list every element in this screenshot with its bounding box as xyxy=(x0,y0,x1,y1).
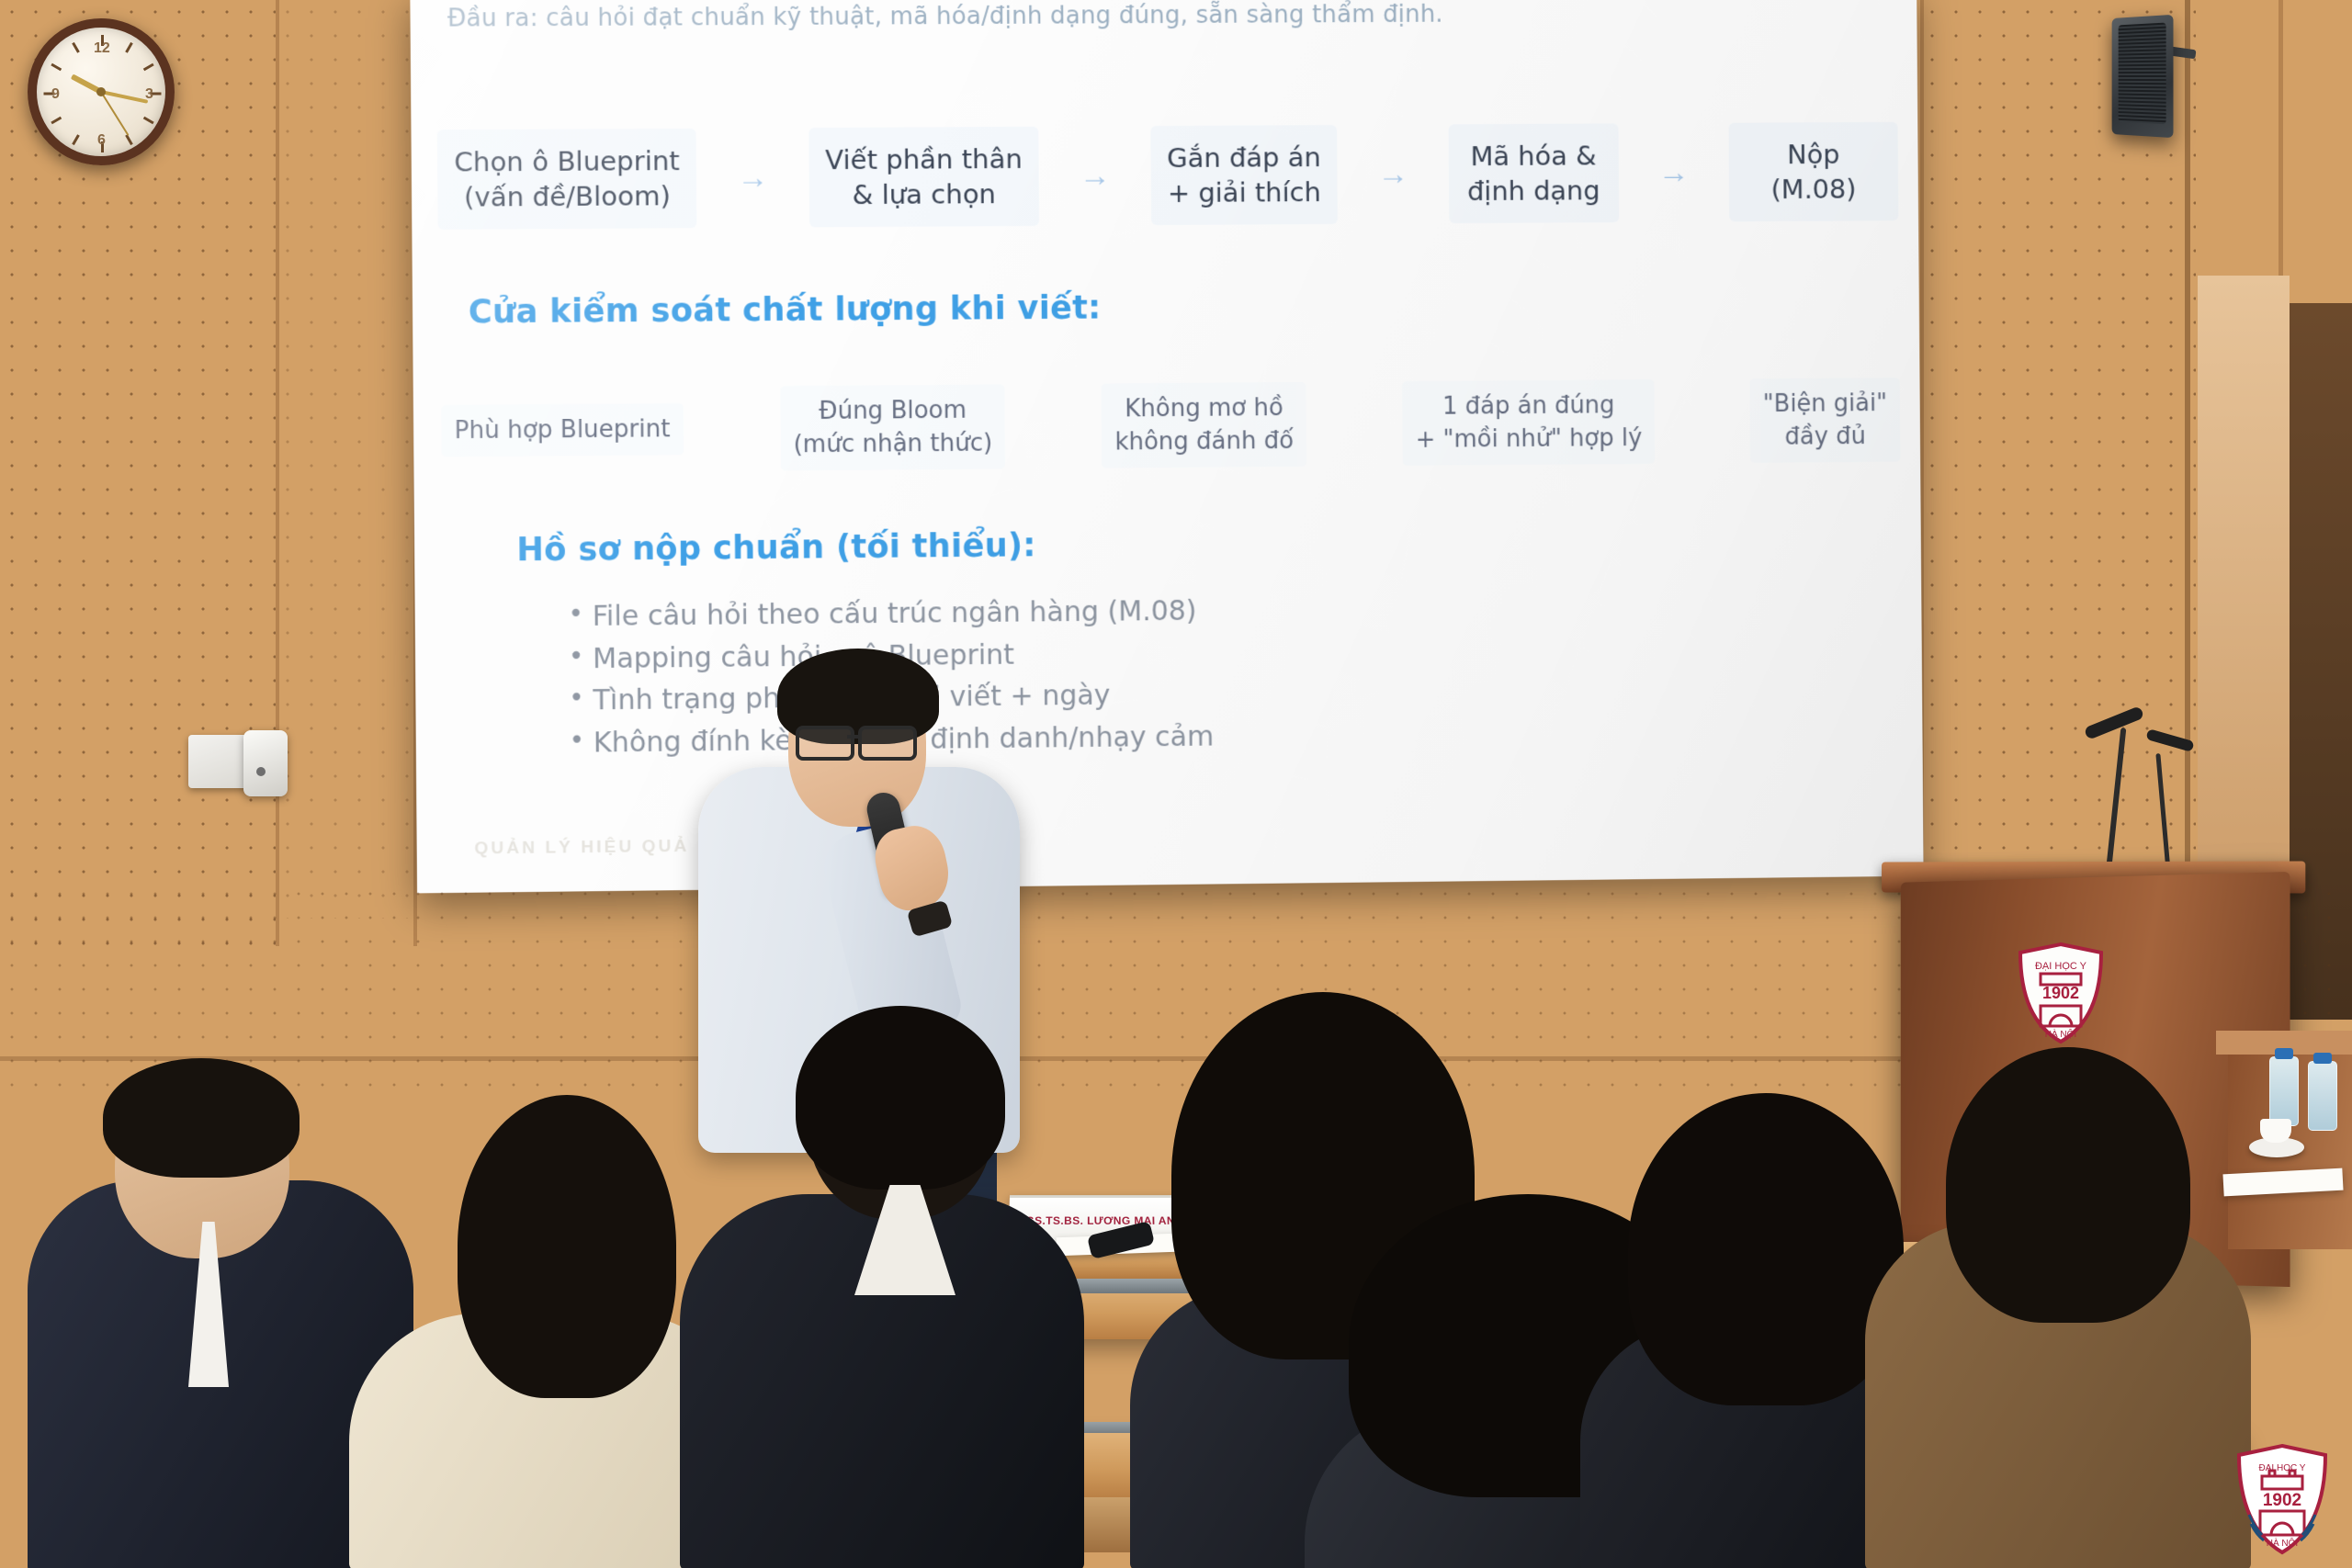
gate-item-4: 1 đáp án đúng + "mồi nhử" hợp lý xyxy=(1402,379,1655,467)
flow-step-5: Nộp (M.08) xyxy=(1728,121,1898,221)
flow-step-2-line1: Viết phần thân xyxy=(825,141,1023,178)
presenter-glasses-right-lens xyxy=(858,726,917,761)
flow-step-1-line2: (vấn đề/Bloom) xyxy=(454,178,680,215)
wall-panel-left-inner xyxy=(276,0,423,919)
gate-item-5-line2: đầy đủ xyxy=(1763,420,1887,454)
gate-item-4-line1: 1 đáp án đúng xyxy=(1415,389,1642,423)
photograph-scene: 12 3 6 9 Q Đầu ra: câu hỏi đạt chuẩn kỹ … xyxy=(0,0,2352,1568)
clock-number-12: 12 xyxy=(94,40,110,57)
clock-face: 12 3 6 9 xyxy=(28,18,175,165)
slide-subtitle: Đầu ra: câu hỏi đạt chuẩn kỹ thuật, mã h… xyxy=(447,0,1881,33)
gate-item-2-line1: Đúng Bloom xyxy=(793,393,992,428)
slide-watermark: QUẢN LÝ HIỆU QUẢ xyxy=(474,837,689,860)
flow-step-2-line2: & lựa chọn xyxy=(825,176,1023,213)
flow-step-1-line1: Chọn ô Blueprint xyxy=(454,143,680,180)
water-bottle-2 xyxy=(2308,1061,2337,1131)
flow-step-3: Gắn đáp án + giải thích xyxy=(1150,125,1338,226)
speaker-grille xyxy=(2119,23,2166,125)
wall-clock: 12 3 6 9 xyxy=(28,18,175,165)
presenter-glasses-bridge xyxy=(847,735,860,739)
presenter-glasses-left-lens xyxy=(796,726,854,761)
flow-step-5-line1: Nộp xyxy=(1745,136,1882,172)
gate-item-2: Đúng Bloom (mức nhận thức) xyxy=(780,384,1006,471)
clock-number-9: 9 xyxy=(51,86,60,103)
gate-item-3-line1: Không mơ hồ xyxy=(1114,391,1294,426)
svg-text:HÀ NỘI: HÀ NỘI xyxy=(2045,1028,2076,1040)
flow-arrow-icon-3: → xyxy=(1374,156,1412,192)
gate-item-3: Không mơ hồ không đánh đố xyxy=(1102,382,1306,468)
flow-step-2: Viết phần thân & lựa chọn xyxy=(808,126,1040,227)
quality-gate-row: Phù hợp Blueprint Đúng Bloom (mức nhận t… xyxy=(441,369,1900,481)
clock-center-pin xyxy=(96,87,106,96)
motion-sensor xyxy=(243,730,288,796)
dossier-bullet-1: File câu hỏi theo cấu trúc ngân hàng (M.… xyxy=(568,591,1213,638)
presentation-slide: Q Đầu ra: câu hỏi đạt chuẩn kỹ thuật, mã… xyxy=(410,0,1923,893)
water-bottle-1 xyxy=(2269,1056,2299,1126)
svg-text:HÀ NỘI: HÀ NỘI xyxy=(2267,1537,2298,1549)
clock-number-6: 6 xyxy=(97,132,106,149)
gate-item-4-line2: + "mồi nhử" hợp lý xyxy=(1416,422,1643,457)
svg-text:1902: 1902 xyxy=(2263,1491,2301,1510)
flow-arrow-icon-4: → xyxy=(1655,154,1693,190)
svg-text:1902: 1902 xyxy=(2042,984,2079,1002)
university-logo-watermark: ĐẠI HỌC Y 1902 HÀ NỘI xyxy=(2234,1443,2330,1555)
gate-item-5: "Biện giải" đầy đủ xyxy=(1750,378,1901,464)
gate-item-2-line2: (mức nhận thức) xyxy=(793,427,992,462)
gate-item-1: Phù hợp Blueprint xyxy=(441,403,684,457)
gate-item-5-line1: "Biện giải" xyxy=(1763,387,1887,421)
flow-arrow-icon-2: → xyxy=(1075,158,1114,194)
wall-speaker xyxy=(2112,15,2174,138)
flow-arrow-icon-1: → xyxy=(733,160,773,196)
svg-text:ĐẠI HỌC Y: ĐẠI HỌC Y xyxy=(2259,1463,2306,1473)
quality-gate-heading: Cửa kiểm soát chất lượng khi viết: xyxy=(469,290,1102,332)
flow-step-3-line2: + giải thích xyxy=(1167,175,1321,210)
nameplate-text: PGS.TS.BS. LƯƠNG MAI ANH xyxy=(1018,1214,1184,1227)
wall-seam-1 xyxy=(276,0,279,946)
flow-step-4-line1: Mã hóa & xyxy=(1464,138,1601,174)
flow-step-3-line1: Gắn đáp án xyxy=(1167,140,1321,175)
dossier-heading: Hồ sơ nộp chuẩn (tối thiểu): xyxy=(516,527,1036,569)
gate-item-3-line2: không đánh đố xyxy=(1114,424,1294,459)
projection-screen: Q Đầu ra: câu hỏi đạt chuẩn kỹ thuật, mã… xyxy=(410,0,1923,893)
flow-step-4-line2: định dạng xyxy=(1465,173,1602,209)
flow-step-4: Mã hóa & định dạng xyxy=(1448,123,1619,223)
svg-text:ĐẠI HỌC Y: ĐẠI HỌC Y xyxy=(2035,961,2087,972)
gate-item-1-line1: Phù hợp Blueprint xyxy=(454,412,670,447)
podium-crest-logo: ĐẠI HỌC Y 1902 HÀ NỘI xyxy=(2017,942,2105,1044)
flow-step-1: Chọn ô Blueprint (vấn đề/Bloom) xyxy=(437,128,697,230)
teacup xyxy=(2260,1119,2291,1143)
process-flow-row: Chọn ô Blueprint (vấn đề/Bloom) → Viết p… xyxy=(437,103,1899,249)
sensor-led-icon xyxy=(256,767,266,776)
flow-step-5-line2: (M.08) xyxy=(1746,172,1883,208)
